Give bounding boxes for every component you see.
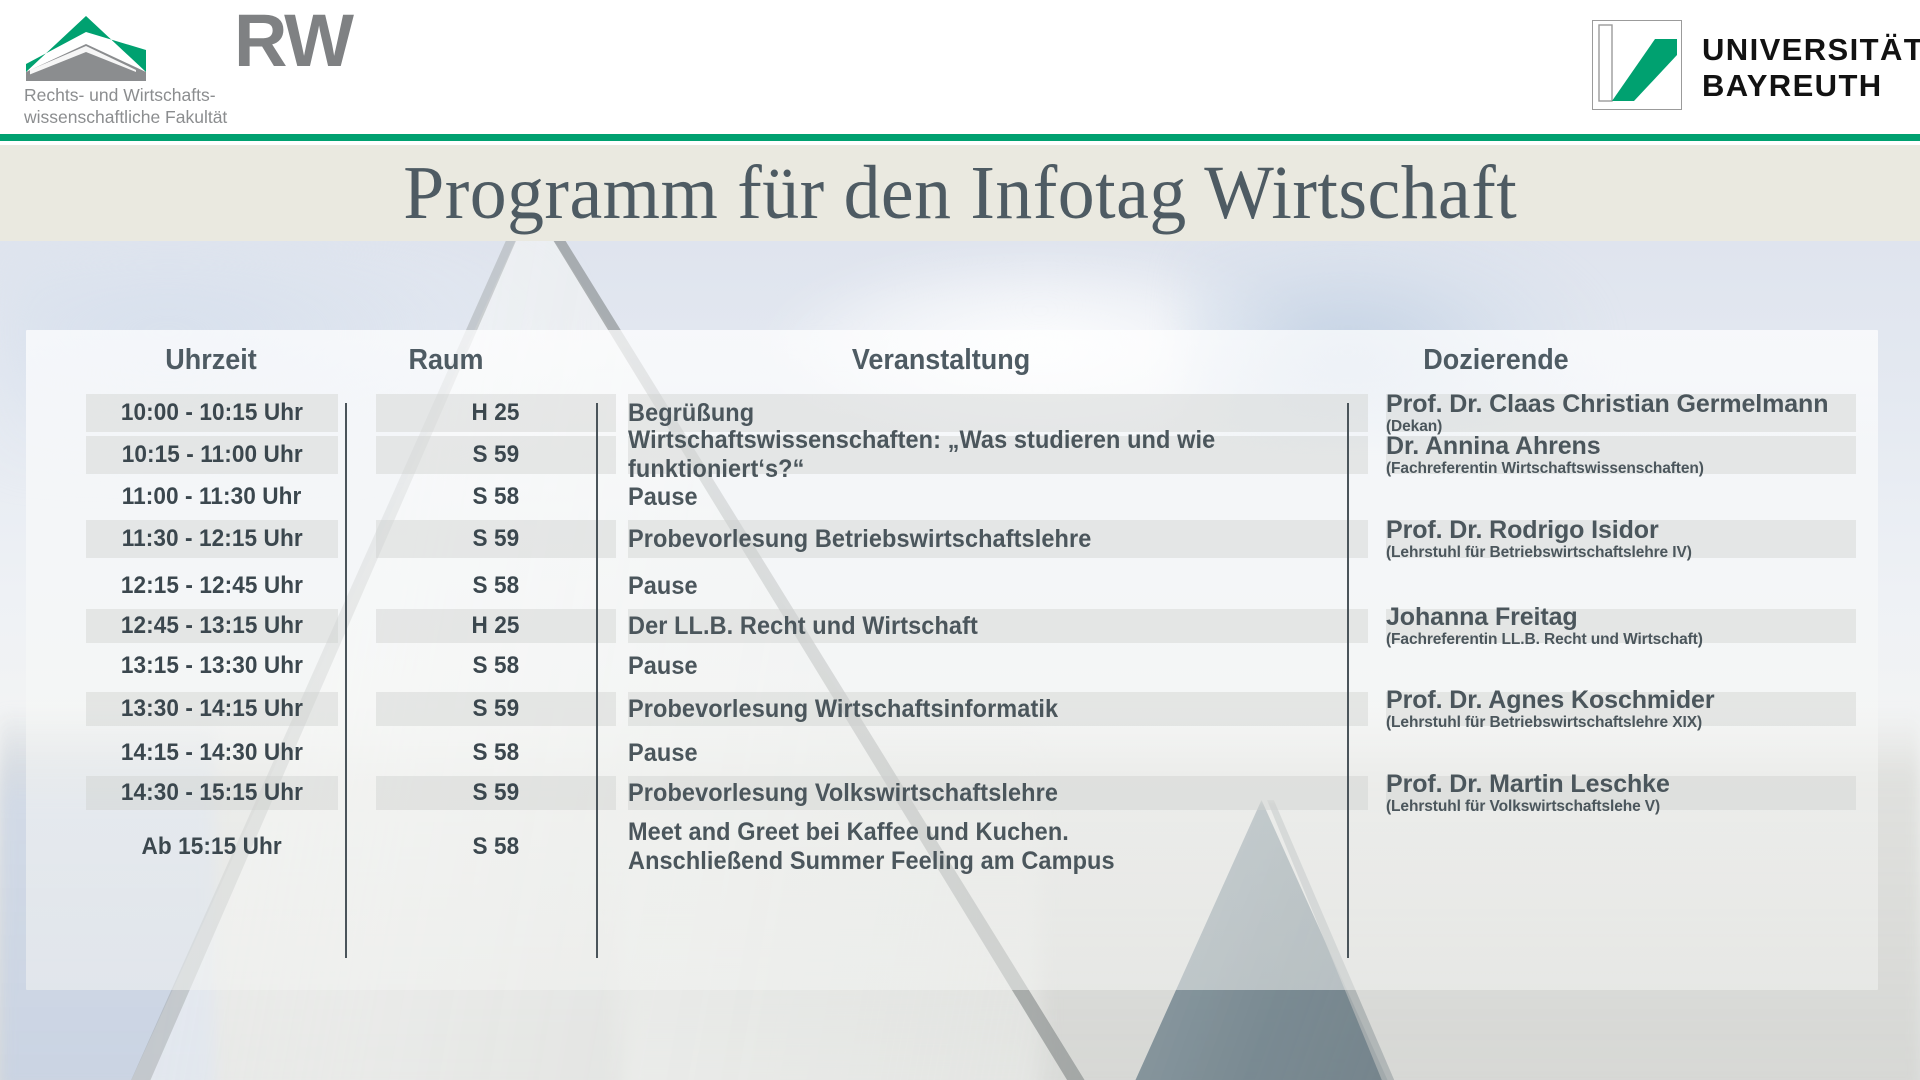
row-lecturer-name: Prof. Dr. Rodrigo Isidor bbox=[1386, 517, 1692, 544]
row-time-text: Ab 15:15 Uhr bbox=[142, 833, 282, 861]
cell-room: S 59 bbox=[376, 434, 616, 476]
cell-time: 11:30 - 12:15 Uhr bbox=[86, 518, 338, 560]
row-time-text: 13:30 - 14:15 Uhr bbox=[121, 695, 303, 723]
cell-time: 14:15 - 14:30 Uhr bbox=[86, 732, 338, 774]
ub-diagonal-mark-icon bbox=[1592, 20, 1682, 110]
row-lecturer-role: (Lehrstuhl für Betriebswirtschaftslehre … bbox=[1386, 714, 1715, 732]
cell-room: S 58 bbox=[376, 565, 616, 607]
cell-lecturer: Prof. Dr. Martin Leschke(Lehrstuhl für V… bbox=[1386, 774, 1856, 812]
row-lecturer-role: (Fachreferentin LL.B. Recht und Wirtscha… bbox=[1386, 631, 1703, 649]
row-room-text: S 59 bbox=[473, 779, 520, 807]
cell-time: 14:30 - 15:15 Uhr bbox=[86, 774, 338, 812]
cell-room: S 58 bbox=[376, 732, 616, 774]
cell-time: 13:30 - 14:15 Uhr bbox=[86, 690, 338, 728]
page-header: RW Rechts- und Wirtschafts- wissenschaft… bbox=[0, 0, 1920, 134]
university-logo-line2: BAYREUTH bbox=[1702, 68, 1920, 104]
row-room-text: H 25 bbox=[472, 612, 520, 640]
row-time-text: 13:15 - 13:30 Uhr bbox=[121, 652, 303, 680]
faculty-logo-line2: wissenschaftliche Fakultät bbox=[24, 106, 384, 128]
cell-event: Probevorlesung Betriebswirtschaftslehre bbox=[628, 518, 1368, 560]
row-time-text: 14:30 - 15:15 Uhr bbox=[121, 779, 303, 807]
column-header-uhrzeit: Uhrzeit bbox=[95, 344, 328, 377]
cell-lecturer: Prof. Dr. Rodrigo Isidor(Lehrstuhl für B… bbox=[1386, 518, 1856, 560]
green-divider-rule bbox=[0, 134, 1920, 141]
lecturer-block: Prof. Dr. Claas Christian Germelmann(Dek… bbox=[1386, 391, 1828, 436]
row-event-text: Der LL.B. Recht und Wirtschaft bbox=[628, 612, 978, 641]
row-event-text: Begrüßung bbox=[628, 399, 754, 428]
lecturer-block: Prof. Dr. Martin Leschke(Lehrstuhl für V… bbox=[1386, 771, 1670, 816]
cell-event: Der LL.B. Recht und Wirtschaft bbox=[628, 607, 1368, 645]
cell-time: 13:15 - 13:30 Uhr bbox=[86, 645, 338, 687]
university-logo-line1: UNIVERSITÄT bbox=[1702, 32, 1920, 68]
cell-event: Pause bbox=[628, 476, 1368, 518]
cell-room: S 59 bbox=[376, 774, 616, 812]
cell-event: Meet and Greet bei Kaffee und Kuchen.Ans… bbox=[628, 816, 1368, 878]
row-room-text: S 58 bbox=[473, 572, 520, 600]
lecturer-block: Johanna Freitag(Fachreferentin LL.B. Rec… bbox=[1386, 604, 1703, 649]
row-room-text: S 59 bbox=[473, 441, 520, 469]
row-time-text: 11:30 - 12:15 Uhr bbox=[122, 525, 303, 553]
page-title: Programm für den Infotag Wirtschaft bbox=[403, 153, 1517, 233]
cell-time: 11:00 - 11:30 Uhr bbox=[86, 476, 338, 518]
row-event-text: Probevorlesung Volkswirtschaftslehre bbox=[628, 779, 1058, 808]
cell-time: 10:15 - 11:00 Uhr bbox=[86, 434, 338, 476]
cell-lecturer: Dr. Annina Ahrens(Fachreferentin Wirtsch… bbox=[1386, 434, 1856, 476]
faculty-logo-subtitle: Rechts- und Wirtschafts- wissenschaftlic… bbox=[24, 84, 384, 128]
cell-time: 12:15 - 12:45 Uhr bbox=[86, 565, 338, 607]
cell-room: S 58 bbox=[376, 816, 616, 878]
row-lecturer-name: Johanna Freitag bbox=[1386, 604, 1703, 631]
cell-lecturer: Johanna Freitag(Fachreferentin LL.B. Rec… bbox=[1386, 607, 1856, 645]
cell-room: S 59 bbox=[376, 690, 616, 728]
row-time-text: 11:00 - 11:30 Uhr bbox=[122, 483, 302, 511]
row-event-text: Probevorlesung Betriebswirtschaftslehre bbox=[628, 525, 1091, 554]
cell-event: Pause bbox=[628, 565, 1368, 607]
faculty-logo: RW Rechts- und Wirtschafts- wissenschaft… bbox=[12, 10, 392, 122]
row-event-text: Pause bbox=[628, 739, 698, 768]
row-time-text: 12:15 - 12:45 Uhr bbox=[121, 572, 303, 600]
lecturer-block: Prof. Dr. Rodrigo Isidor(Lehrstuhl für B… bbox=[1386, 517, 1692, 562]
cell-time: 12:45 - 13:15 Uhr bbox=[86, 607, 338, 645]
cell-time: 10:00 - 10:15 Uhr bbox=[86, 392, 338, 434]
cell-room: S 58 bbox=[376, 476, 616, 518]
cell-time: Ab 15:15 Uhr bbox=[86, 816, 338, 878]
row-event-text: Pause bbox=[628, 572, 698, 601]
row-room-text: S 58 bbox=[473, 652, 520, 680]
cell-lecturer: Prof. Dr. Claas Christian Germelmann(Dek… bbox=[1386, 392, 1856, 434]
cell-event: Pause bbox=[628, 732, 1368, 774]
row-lecturer-name: Prof. Dr. Agnes Koschmider bbox=[1386, 687, 1715, 714]
row-lecturer-name: Prof. Dr. Claas Christian Germelmann bbox=[1386, 391, 1828, 418]
university-logo-text: UNIVERSITÄT BAYREUTH bbox=[1702, 32, 1920, 104]
column-divider-3 bbox=[1347, 403, 1349, 958]
column-divider-1 bbox=[345, 403, 347, 958]
row-event-text: Probevorlesung Wirtschaftsinformatik bbox=[628, 695, 1058, 724]
lecturer-block: Dr. Annina Ahrens(Fachreferentin Wirtsch… bbox=[1386, 433, 1704, 478]
table-header-row: Uhrzeit Raum Veranstaltung Dozierende bbox=[26, 330, 1878, 392]
row-lecturer-role: (Lehrstuhl für Volkswirtschaftslehe V) bbox=[1386, 798, 1670, 816]
row-event-text-line2: Anschließend Summer Feeling am Campus bbox=[628, 847, 1115, 876]
row-room-text: S 59 bbox=[473, 695, 520, 723]
row-room-text: S 58 bbox=[473, 833, 520, 861]
column-header-dozierende: Dozierende bbox=[1208, 344, 1785, 377]
column-header-raum: Raum bbox=[362, 344, 529, 377]
row-room-text: S 58 bbox=[473, 739, 520, 767]
column-divider-2 bbox=[596, 403, 598, 958]
row-time-text: 10:00 - 10:15 Uhr bbox=[121, 399, 303, 427]
row-time-text: 10:15 - 11:00 Uhr bbox=[122, 441, 303, 469]
row-event-text: Meet and Greet bei Kaffee und Kuchen.Ans… bbox=[628, 818, 1115, 876]
cell-event: Wirtschaftswissenschaften: „Was studiere… bbox=[628, 434, 1368, 476]
row-lecturer-name: Dr. Annina Ahrens bbox=[1386, 433, 1704, 460]
row-time-text: 12:45 - 13:15 Uhr bbox=[121, 612, 303, 640]
row-lecturer-role: (Fachreferentin Wirtschaftswissenschafte… bbox=[1386, 460, 1704, 478]
lecturer-block: Prof. Dr. Agnes Koschmider(Lehrstuhl für… bbox=[1386, 687, 1715, 732]
column-header-veranstaltung: Veranstaltung bbox=[592, 344, 1290, 377]
row-time-text: 14:15 - 14:30 Uhr bbox=[121, 739, 303, 767]
faculty-logo-line1: Rechts- und Wirtschafts- bbox=[24, 84, 384, 106]
row-room-text: S 58 bbox=[473, 483, 520, 511]
rw-roof-mark-icon bbox=[24, 14, 224, 82]
cell-event: Probevorlesung Volkswirtschaftslehre bbox=[628, 774, 1368, 812]
faculty-logo-abbr: RW bbox=[234, 4, 352, 78]
row-event-text: Pause bbox=[628, 483, 698, 512]
cell-room: H 25 bbox=[376, 392, 616, 434]
cell-room: S 58 bbox=[376, 645, 616, 687]
title-band: Programm für den Infotag Wirtschaft bbox=[0, 145, 1920, 241]
cell-room: H 25 bbox=[376, 607, 616, 645]
cell-room: S 59 bbox=[376, 518, 616, 560]
row-event-text: Pause bbox=[628, 652, 698, 681]
cell-lecturer: Prof. Dr. Agnes Koschmider(Lehrstuhl für… bbox=[1386, 690, 1856, 728]
cell-event: Probevorlesung Wirtschaftsinformatik bbox=[628, 690, 1368, 728]
row-lecturer-name: Prof. Dr. Martin Leschke bbox=[1386, 771, 1670, 798]
row-room-text: S 59 bbox=[473, 525, 520, 553]
row-room-text: H 25 bbox=[472, 399, 520, 427]
cell-event: Pause bbox=[628, 645, 1368, 687]
row-lecturer-role: (Lehrstuhl für Betriebswirtschaftslehre … bbox=[1386, 544, 1692, 562]
university-logo: UNIVERSITÄT BAYREUTH bbox=[1592, 16, 1892, 112]
program-table-panel: Uhrzeit Raum Veranstaltung Dozierende 10… bbox=[26, 330, 1878, 990]
